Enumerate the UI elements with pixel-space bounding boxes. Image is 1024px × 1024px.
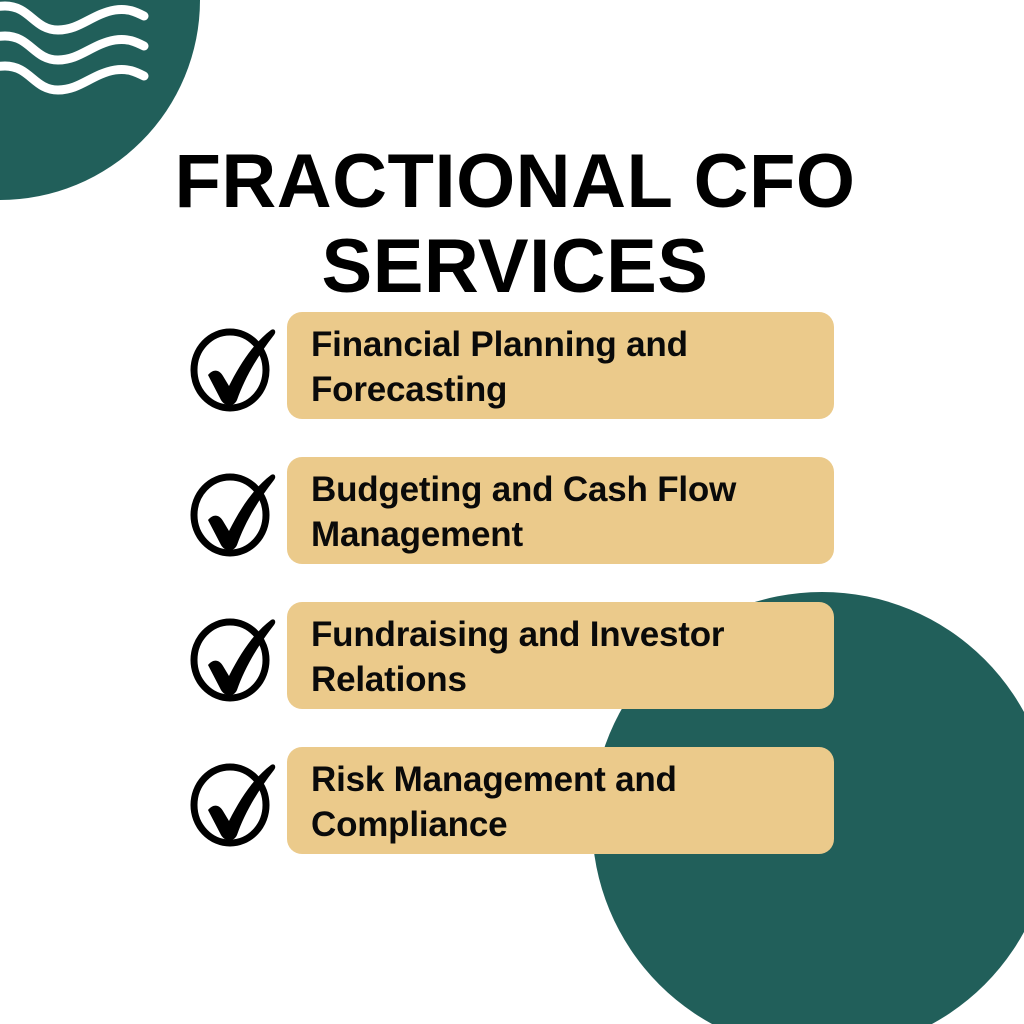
services-list: Financial Planning and Forecasting Budge… [186, 312, 846, 854]
service-pill: Fundraising and Investor Relations [287, 602, 834, 709]
service-pill: Financial Planning and Forecasting [287, 312, 834, 419]
service-pill: Budgeting and Cash Flow Management [287, 457, 834, 564]
list-item-label: Risk Management and Compliance [311, 760, 677, 844]
page-title: FRACTIONAL CFO SERVICES [150, 139, 880, 309]
list-item-label: Budgeting and Cash Flow Management [311, 470, 736, 554]
check-circle-icon [186, 463, 282, 559]
check-circle-icon [186, 608, 282, 704]
check-circle-icon [186, 753, 282, 849]
list-item: Financial Planning and Forecasting [186, 312, 846, 419]
list-item: Risk Management and Compliance [186, 747, 846, 854]
check-circle-icon [186, 318, 282, 414]
service-pill: Risk Management and Compliance [287, 747, 834, 854]
list-item-label: Fundraising and Investor Relations [311, 615, 724, 699]
slide-canvas: FRACTIONAL CFO SERVICES Financial Planni… [0, 0, 1024, 1024]
list-item: Fundraising and Investor Relations [186, 602, 846, 709]
list-item: Budgeting and Cash Flow Management [186, 457, 846, 564]
list-item-label: Financial Planning and Forecasting [311, 325, 688, 409]
